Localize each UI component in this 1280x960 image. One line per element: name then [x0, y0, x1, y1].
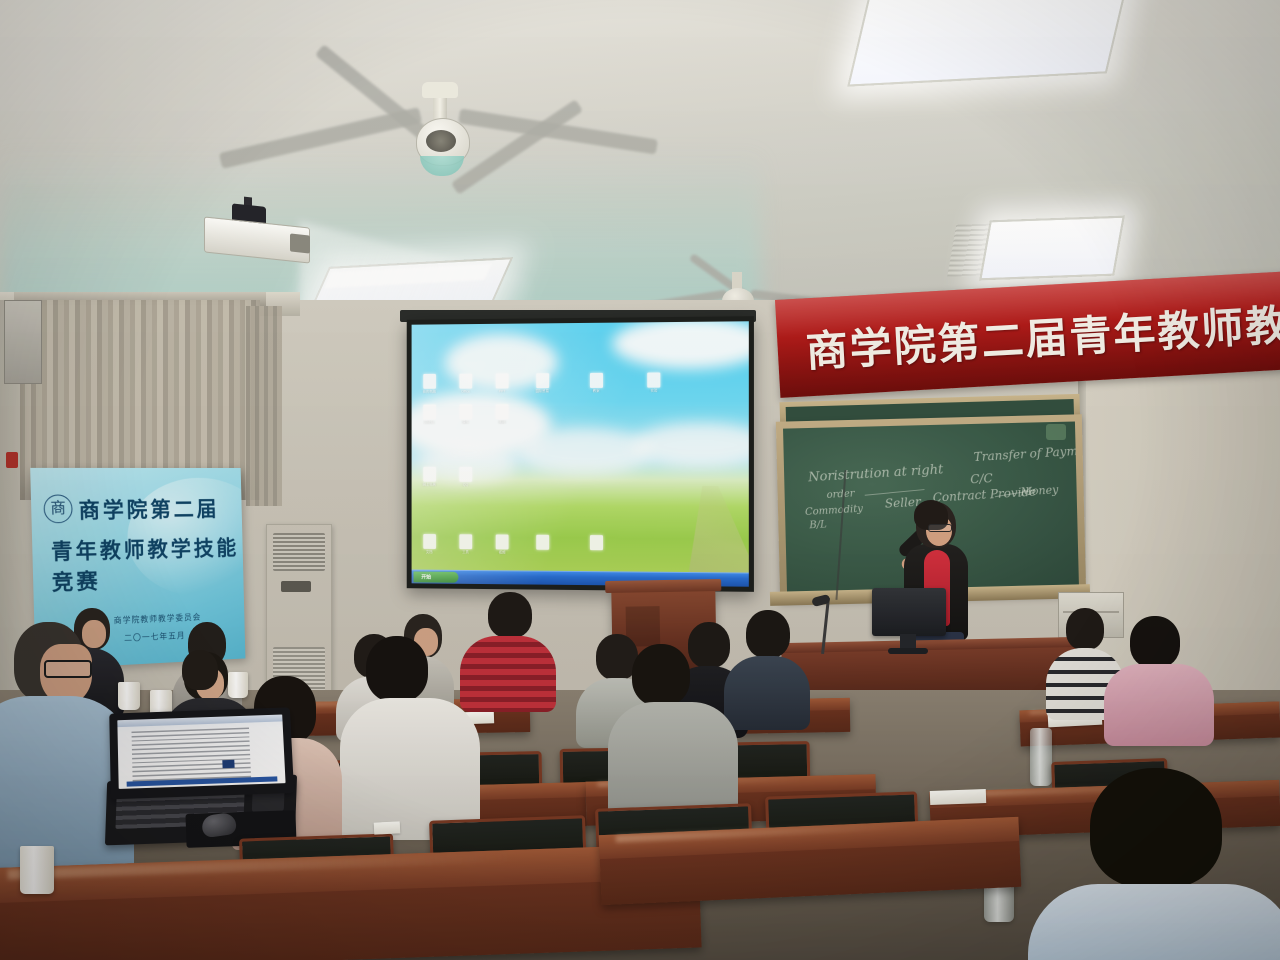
- ac-vent-icon: [273, 533, 325, 571]
- school-logo-icon: 商: [43, 494, 73, 523]
- ceiling-light-panel: [979, 216, 1125, 281]
- laptop-screen[interactable]: [117, 715, 285, 789]
- window-curtain: [246, 306, 282, 506]
- classroom-photo: 商学院第二届青年教师教学技能竞赛 Noristrution at right T…: [0, 0, 1280, 960]
- handout-paper: [374, 821, 401, 834]
- audience-member: [1042, 768, 1280, 960]
- audience-member: [340, 636, 480, 836]
- ceiling-light-panel: [847, 0, 1128, 87]
- audience-member: [1104, 616, 1214, 744]
- blackboard-corner-mark: [1046, 424, 1066, 440]
- chalk-text: Noristrution at right: [808, 462, 944, 485]
- handout-paper: [930, 789, 986, 805]
- fire-alarm-icon: [6, 452, 18, 468]
- paper-cup: [20, 846, 54, 894]
- paper-cup: [118, 682, 140, 710]
- laptop-lid: [109, 707, 294, 799]
- glasses-icon: [44, 660, 92, 678]
- wall-speaker: [4, 300, 42, 384]
- monitor-base: [888, 648, 928, 654]
- screen-glare: [412, 321, 749, 586]
- glasses-icon: [928, 524, 952, 532]
- chalk-text: order: [826, 488, 855, 501]
- chalk-text: B/L: [809, 519, 827, 531]
- poster-line-2: 青年教师教学技能竞赛: [51, 532, 244, 597]
- document-text: [131, 728, 251, 782]
- ac-control-panel[interactable]: [281, 581, 311, 592]
- audience-member: [0, 622, 120, 872]
- ceiling-fan: [230, 78, 650, 208]
- projected-desktop: 我的电脑 回收站 网上邻居 文档 Office 课件: [412, 321, 749, 586]
- chalk-text: C/C: [970, 471, 993, 486]
- teacher-monitor: [872, 588, 946, 636]
- document-toolbar[interactable]: [117, 715, 282, 728]
- document-selection: [222, 760, 234, 768]
- chalk-text: Transfer of Payment: [973, 443, 1079, 464]
- chalk-text: Commodity: [805, 504, 863, 518]
- projection-screen: 我的电脑 回收站 网上邻居 文档 Office 课件: [407, 316, 754, 592]
- poster-line-1: 商学院第二届: [78, 493, 219, 524]
